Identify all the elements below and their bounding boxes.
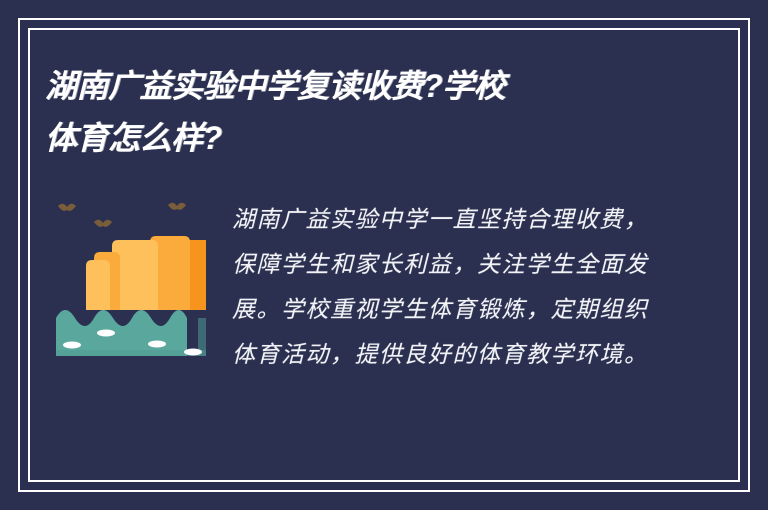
foam-highlight-2: [97, 330, 115, 337]
page-title: 湖南广益实验中学复读收费?学校 体育怎么样?: [45, 60, 645, 164]
foam-highlight-1: [63, 342, 81, 349]
cliff-column-1b: [86, 260, 110, 310]
foam-highlight-3: [148, 341, 166, 348]
bird-left: [58, 204, 76, 211]
sea: [56, 310, 206, 356]
page-title-line-1: 湖南广益实验中学复读收费?学校: [45, 60, 645, 112]
body-paragraph-text: 湖南广益实验中学一直坚持合理收费，保障学生和家长利益，关注学生全面发展。学校重视…: [232, 198, 652, 378]
page-title-line-2: 体育怎么样?: [45, 112, 645, 164]
page-root: 湖南广益实验中学复读收费?学校 体育怎么样?: [0, 0, 768, 510]
bird-right: [168, 203, 186, 210]
seaside-cliff-illustration: [56, 196, 206, 356]
foam-highlight-4: [184, 349, 202, 356]
body-paragraph: 湖南广益实验中学一直坚持合理收费，保障学生和家长利益，关注学生全面发展。学校重视…: [232, 198, 652, 378]
bird-center: [94, 220, 112, 227]
